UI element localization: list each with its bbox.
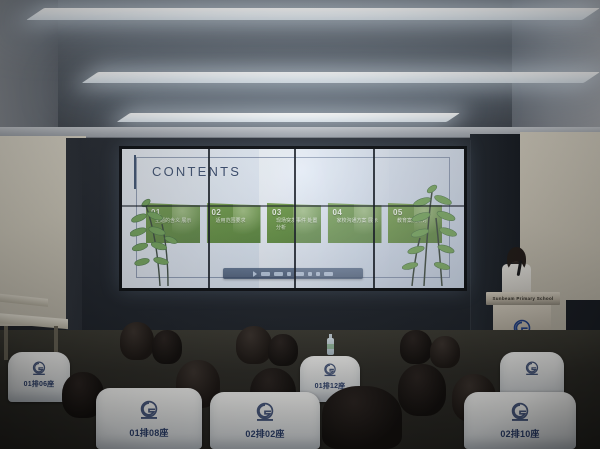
school-crest-icon [138, 400, 160, 420]
school-crest-icon [524, 361, 541, 376]
podium-top-panel: Sunbeam Primary School [486, 292, 560, 305]
chair-back[interactable]: 02排02座 [210, 392, 320, 449]
panel-tint-2 [208, 149, 294, 288]
audience-head [236, 326, 272, 364]
panel-tint-3 [294, 149, 373, 288]
presentation-slide: CONTENTS 01 主题的含义 展示 02 适用范围要求 03 [122, 149, 464, 288]
seat-label: 01排06座 [24, 379, 55, 389]
video-wall-bezel-3 [373, 149, 375, 288]
light-strip-1-icon [26, 8, 600, 20]
side-table-leg-left [4, 326, 8, 360]
panel-tint-1 [122, 149, 208, 288]
audience-head [268, 334, 298, 366]
light-strip-2-icon [82, 72, 600, 83]
audience-head [398, 364, 446, 416]
seat-label: 02排02座 [245, 427, 284, 440]
bottle-label [327, 344, 334, 349]
audience-head [120, 322, 154, 360]
video-wall-bezel-2 [294, 149, 296, 288]
video-wall-bezel-horizontal [122, 205, 464, 207]
audience-head [152, 330, 182, 364]
chair-back[interactable]: 02排10座 [464, 392, 576, 449]
wall-seam [470, 140, 471, 335]
chair-back[interactable]: 01排06座 [8, 352, 70, 402]
seat-label: 02排10座 [500, 427, 539, 440]
school-crest-icon [31, 361, 48, 376]
seat-label: 01排08座 [129, 426, 168, 439]
speaker-person [496, 248, 536, 298]
podium-school-label: Sunbeam Primary School [492, 296, 553, 301]
ceiling-light-group [0, 0, 600, 143]
school-crest-icon [254, 402, 276, 422]
chair-back[interactable]: 01排08座 [96, 388, 202, 449]
light-strip-3-icon [117, 113, 460, 122]
ceiling [0, 0, 600, 143]
school-crest-icon [509, 402, 531, 422]
panel-tint-4 [373, 149, 464, 288]
school-crest-icon [322, 363, 338, 377]
audience-head [430, 336, 460, 368]
video-wall-screen: CONTENTS 01 主题的含义 展示 02 适用范围要求 03 [122, 149, 464, 288]
auditorium-photo: CONTENTS 01 主题的含义 展示 02 适用范围要求 03 [0, 0, 600, 449]
audience-head [400, 330, 432, 364]
video-wall-display[interactable]: CONTENTS 01 主题的含义 展示 02 适用范围要求 03 [119, 146, 467, 291]
video-wall-bezel-1 [208, 149, 210, 288]
water-bottle-icon [327, 338, 334, 355]
audience-head-foreground [322, 386, 402, 449]
